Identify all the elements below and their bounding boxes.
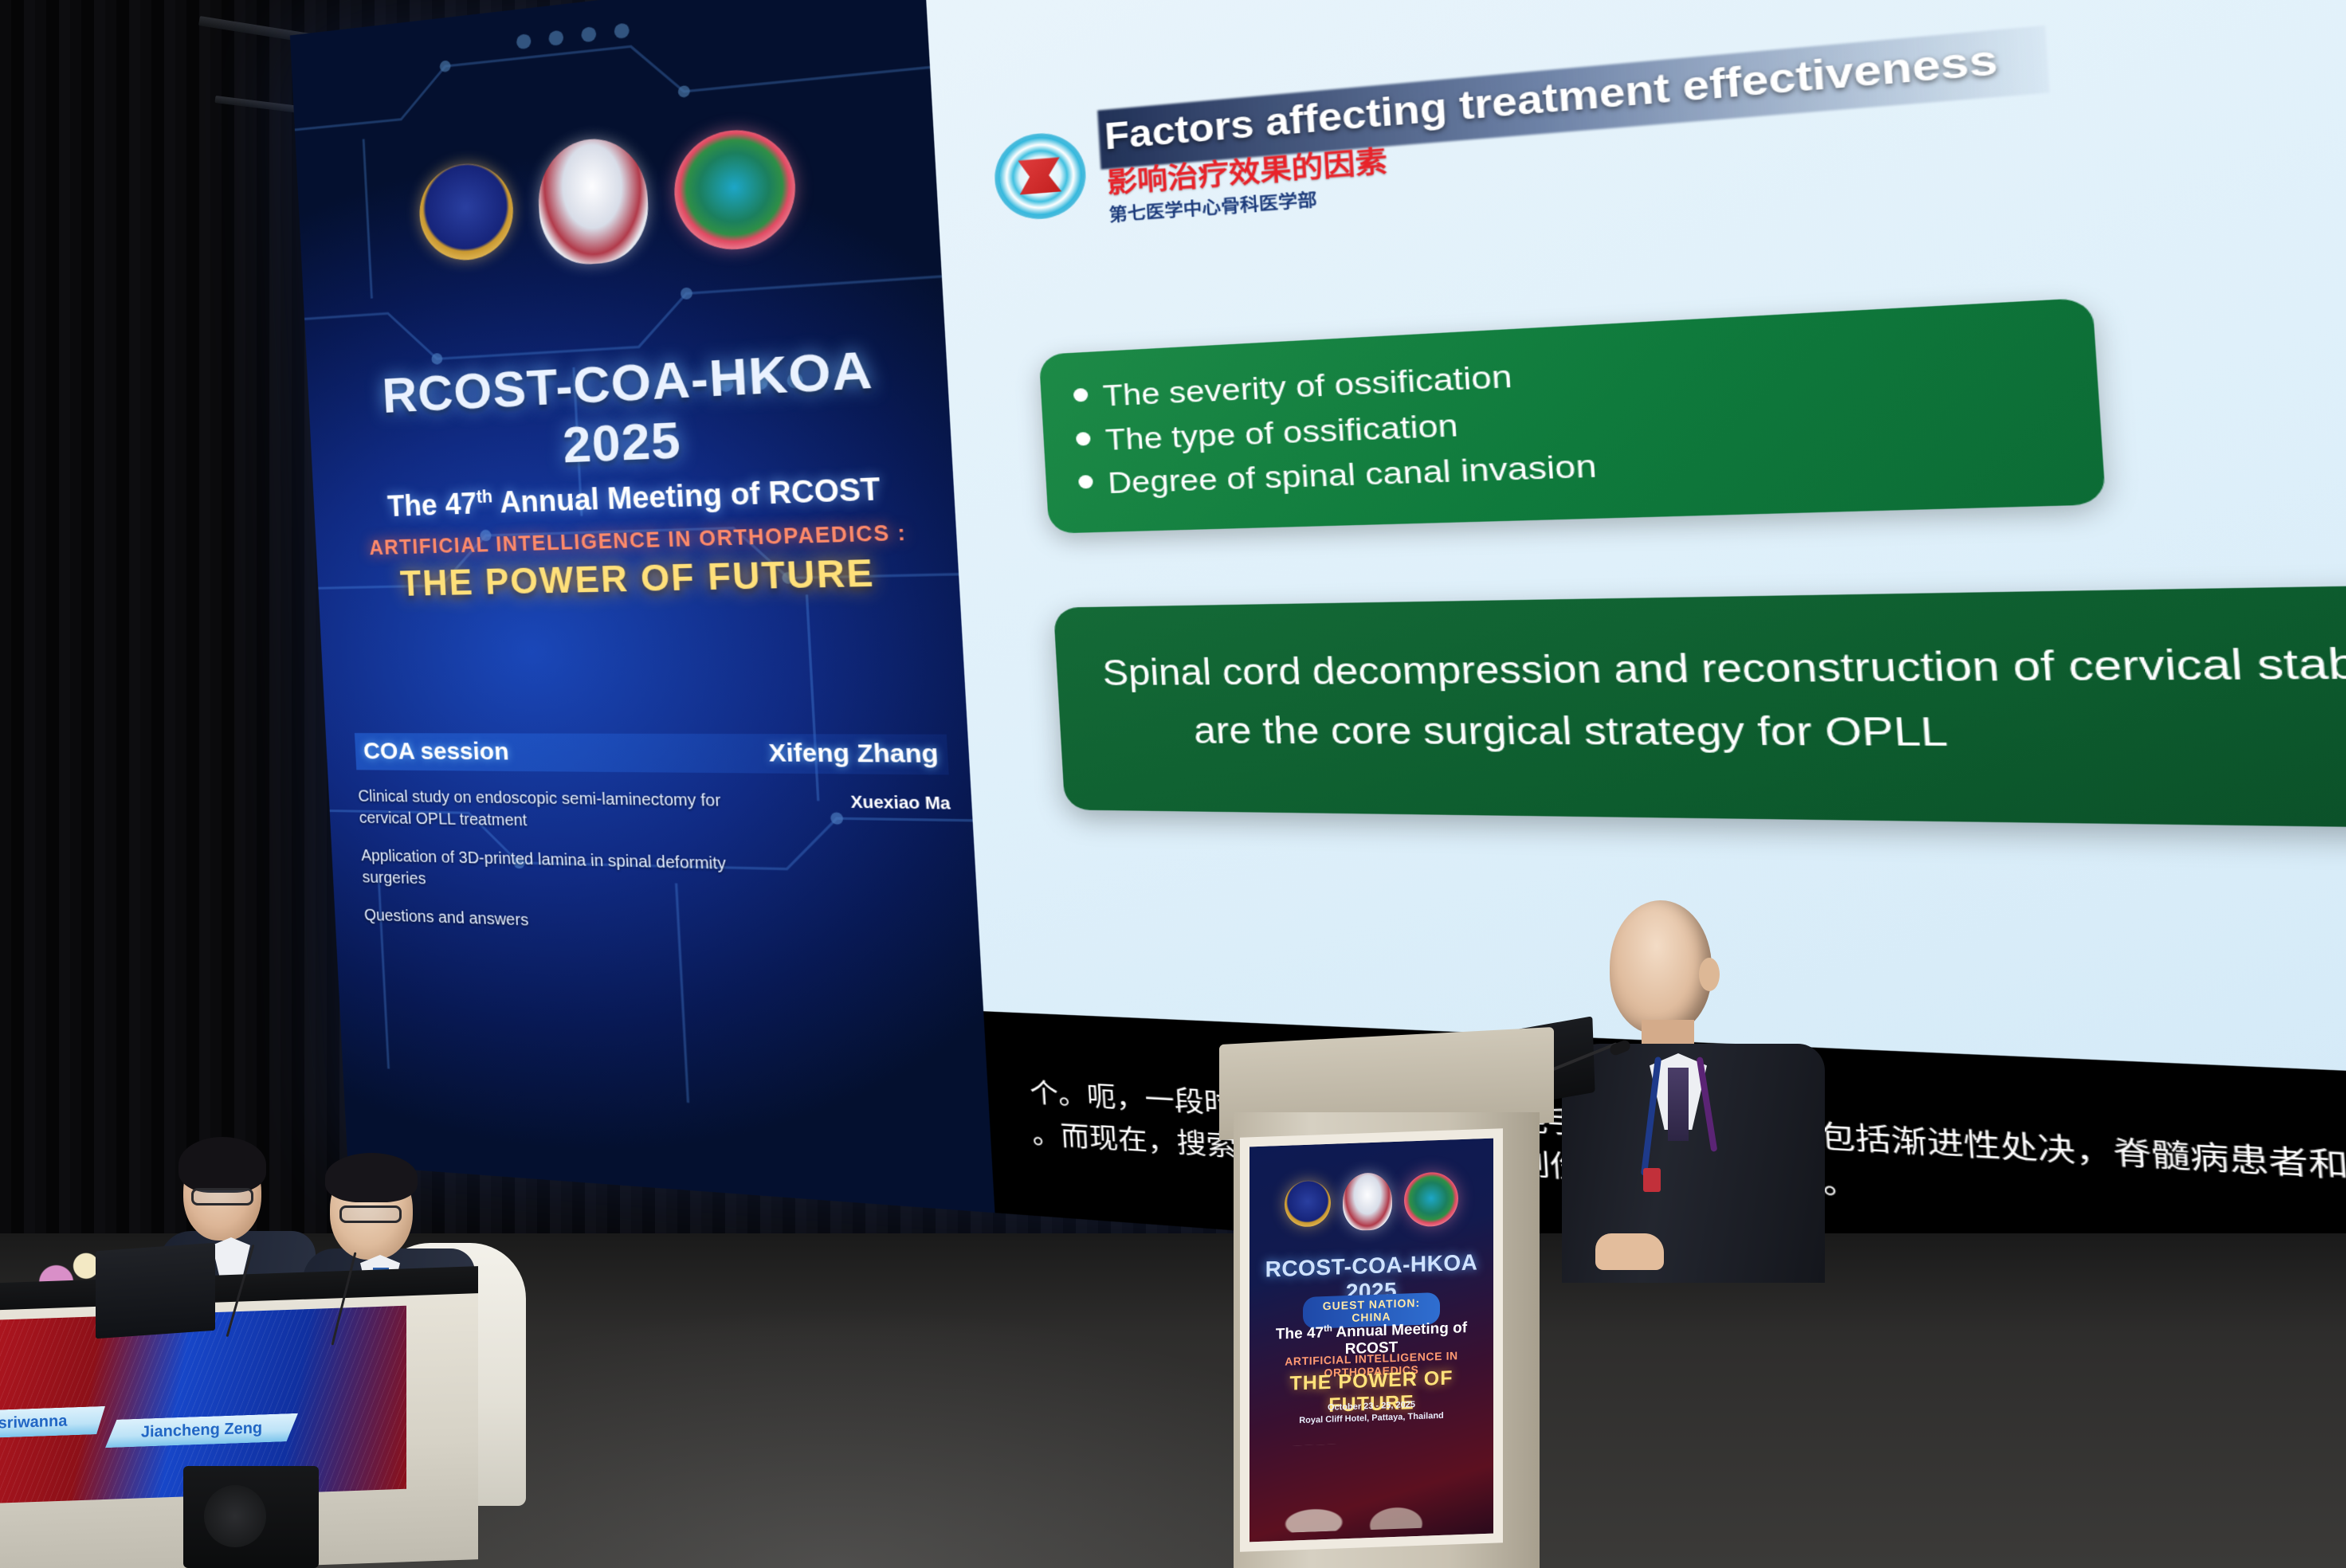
- auditorium-stage: Xifeng Zhang: [0, 0, 2346, 1568]
- agenda-item: Application of 3D-printed lamina in spin…: [361, 845, 956, 905]
- thai-royal-emblem-icon: [1343, 1172, 1392, 1231]
- agenda-header: COA session Xifeng Zhang: [355, 733, 948, 774]
- bullet-dot-icon: [1073, 388, 1088, 402]
- conclusion-line-2: are the core surgical strategy for OPLL: [1104, 698, 2346, 771]
- annual-prefix: The 47: [386, 487, 477, 523]
- stage-floor-monitor: [183, 1466, 319, 1568]
- lectern-podium: RCOST-COA-HKOA 2025 GUEST NATION: CHINA …: [1219, 1036, 1554, 1568]
- bullet-dot-icon: [1075, 432, 1090, 446]
- session-chair: Xifeng Zhang: [768, 739, 940, 770]
- rcost-emblem-icon: [1285, 1180, 1331, 1228]
- agenda-item-title: Clinical study on endoscopic semi-lamine…: [358, 786, 763, 837]
- speaker-ear: [1699, 958, 1720, 991]
- moderator-hair: [325, 1153, 418, 1202]
- conclusion-line-1: Spinal cord decompression and reconstruc…: [1101, 625, 2346, 703]
- slide-header-texts: Factors affecting treatment effectivenes…: [1103, 36, 2004, 226]
- podium-event-sign: RCOST-COA-HKOA 2025 GUEST NATION: CHINA …: [1240, 1128, 1503, 1552]
- annual-rest: Annual Meeting of RCOST: [492, 471, 881, 519]
- rcost-emblem-icon: [417, 160, 515, 264]
- annual-prefix: The 47: [1276, 1324, 1324, 1343]
- bullet-list: The severity of ossification The type of…: [1072, 327, 2060, 506]
- thai-decorative-motif-icon: [1269, 1439, 1473, 1533]
- session-agenda: COA session Xifeng Zhang Clinical study …: [355, 733, 959, 947]
- eyeglasses-icon: [339, 1205, 402, 1223]
- panel-nameplate: sriwanna: [0, 1406, 105, 1439]
- bullet-dot-icon: [1077, 475, 1093, 489]
- annual-ordinal: th: [476, 486, 493, 507]
- presenting-speaker: [1554, 900, 1889, 1275]
- panel-monitor-1: [96, 1243, 215, 1339]
- thai-royal-emblem-icon: [535, 135, 651, 268]
- slide-header: Factors affecting treatment effectivenes…: [991, 16, 2225, 234]
- moderator-hair: [178, 1137, 266, 1193]
- slide-conclusion-box: Spinal cord decompression and reconstruc…: [1053, 575, 2346, 836]
- speaker-hand: [1595, 1233, 1664, 1270]
- agenda-item-title: Application of 3D-printed lamina in spin…: [361, 845, 767, 900]
- eyeglasses-icon: [191, 1188, 253, 1205]
- panel-nameplate-text: Jiancheng Zeng: [141, 1419, 262, 1441]
- speaker-badge: [1643, 1168, 1661, 1192]
- hkoa-emblem-icon: [672, 125, 799, 253]
- slide-bullet-box: The severity of ossification The type of…: [1038, 298, 2105, 534]
- panel-nameplate-text: sriwanna: [0, 1412, 67, 1432]
- agenda-item: Clinical study on endoscopic semi-lamine…: [358, 786, 953, 841]
- speaker-necktie: [1668, 1068, 1689, 1141]
- conference-branding-panel: RCOST-COA-HKOA 2025 The 47th Annual Meet…: [290, 0, 995, 1213]
- brand-text-block: RCOST-COA-HKOA 2025 The 47th Annual Meet…: [331, 336, 946, 606]
- agenda-item-speaker: Xuexiao Ma: [850, 792, 951, 817]
- session-label: COA session: [363, 738, 509, 766]
- hospital-seal-icon: [992, 129, 1088, 221]
- speaker-head: [1610, 900, 1712, 1034]
- podium-emblem-row: [1274, 1159, 1469, 1245]
- hkoa-emblem-icon: [1404, 1172, 1458, 1228]
- annual-ordinal: th: [1324, 1323, 1332, 1333]
